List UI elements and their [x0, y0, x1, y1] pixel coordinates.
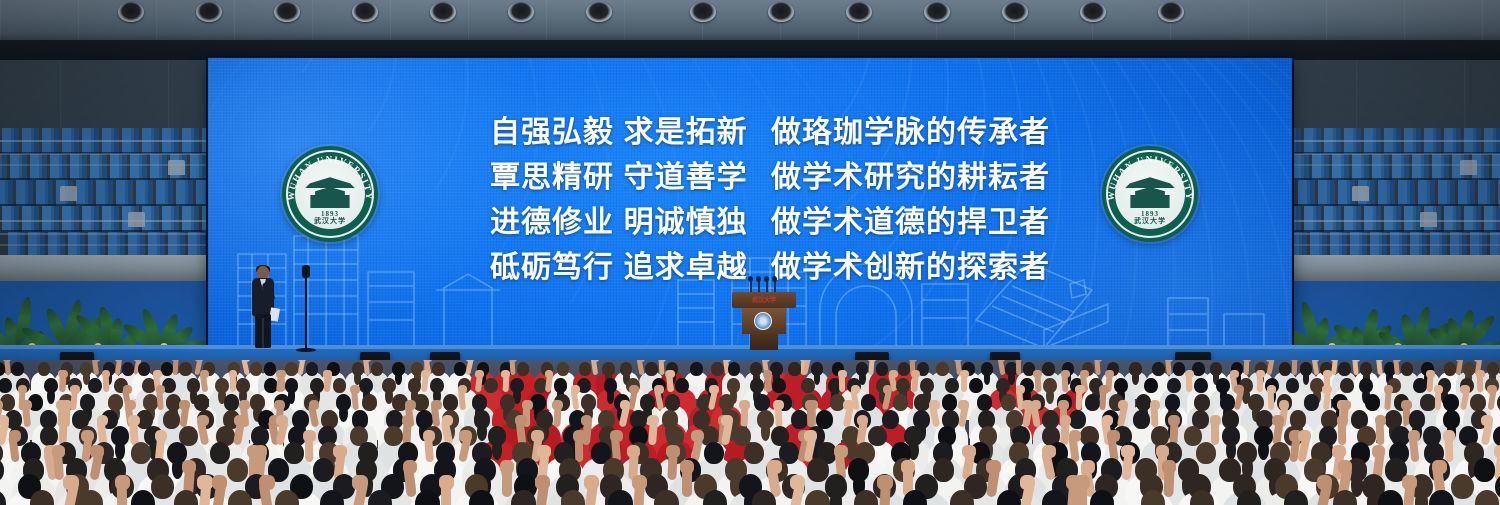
audience-member-fist [709, 385, 719, 394]
audience-member-fist [1272, 415, 1284, 426]
audience-member-head [1340, 378, 1354, 393]
audience-member-fist [1185, 370, 1194, 378]
balcony-fascia-left [0, 255, 208, 281]
ceiling-light-icon [586, 2, 612, 22]
audience-member-fist [1375, 415, 1387, 426]
ceiling-light-icon [118, 2, 144, 22]
audience-member-head [645, 362, 657, 376]
audience-member-head [1141, 490, 1165, 505]
audience-member-fist [459, 430, 472, 442]
audience-member-fist [439, 475, 454, 490]
audience-member-head [320, 490, 344, 505]
audience-member-head [454, 362, 466, 376]
audience-member-fist [1340, 400, 1351, 410]
audience-member [469, 490, 511, 505]
slide-line-4-segment-b: 追求卓越 [624, 245, 771, 290]
audience-member [703, 490, 745, 505]
audience-member-head [861, 394, 876, 411]
audience-member-head [1475, 490, 1499, 505]
audience-member-head [1192, 362, 1204, 376]
audience-member-fist [58, 415, 70, 426]
audience-member-fist [1081, 460, 1095, 474]
ceiling-light-icon [1158, 2, 1184, 22]
audience-member-fist [1074, 475, 1089, 490]
audience-member-fist [1322, 385, 1332, 394]
audience-member-fist [81, 430, 94, 442]
ceiling-light-icon [508, 2, 534, 22]
audience-member-head [38, 362, 50, 376]
audience-member-head [413, 394, 428, 411]
audience-member-head [1429, 490, 1453, 505]
audience-member-fist [1432, 460, 1446, 474]
svg-text:WUHAN UNIVERSITY: WUHAN UNIVERSITY [1106, 154, 1194, 201]
audience-member-fist [1476, 370, 1485, 378]
audience-member-fist [1168, 415, 1180, 426]
balcony-seat-empty [60, 186, 77, 201]
audience-member-fist [234, 415, 246, 426]
audience-member-fist [1042, 445, 1055, 458]
audience-member-fist [303, 430, 316, 442]
audience-member [368, 490, 410, 505]
audience-member [805, 490, 847, 505]
audience-member-fist [1060, 415, 1072, 426]
balcony-fascia-right [1292, 255, 1500, 281]
audience-member-fist [666, 445, 679, 458]
audience-member-head [728, 362, 740, 376]
audience-member-head [936, 362, 948, 376]
audience-member-fist [1234, 385, 1244, 394]
audience-member-head [557, 362, 569, 376]
emblem-arc-label-left: WUHAN UNIVERSITY [286, 154, 374, 201]
audience-member-fist [767, 460, 781, 474]
audience-member-fist [911, 370, 920, 378]
balcony-railing [1292, 140, 1500, 174]
audience-member-fist [1487, 385, 1497, 394]
audience-member-fist [1443, 430, 1456, 442]
audience-member-fist [584, 475, 599, 490]
audience-member-fist [790, 475, 805, 490]
ceiling-light-icon [196, 2, 222, 22]
audience-member [950, 490, 992, 505]
audience-member-head [1378, 490, 1402, 505]
audience-member-fist [552, 400, 563, 410]
audience-member-fist [627, 445, 640, 458]
audience-member-fist [442, 415, 454, 426]
audience-member-fist [763, 370, 772, 378]
audience-member-head [122, 362, 134, 376]
audience-member-fist [1279, 400, 1290, 410]
audience-member-head [511, 490, 535, 505]
audience-member-fist [629, 385, 639, 394]
audience-member-fist [805, 400, 816, 410]
audience-member-fist [958, 400, 969, 410]
audience-member-fist [1075, 385, 1085, 394]
audience-crowd [0, 360, 1500, 505]
audience-member-fist [276, 415, 288, 426]
microphone-head-icon [302, 265, 310, 278]
audience-member-fist [868, 360, 876, 362]
slide-line-4-segment-c: 做学术创新的探索者 [771, 245, 1050, 290]
audience-member-head [1304, 394, 1319, 411]
audience-member-fist [1099, 385, 1109, 394]
audience-member-fist [97, 415, 109, 426]
audience-member-fist [276, 370, 285, 378]
slide-text-block: 自强弘毅 求是拓新 做珞珈学脉的传承者 覃思精研 守道善学 做学术研究的耕耘者 … [490, 110, 1050, 290]
audience-member-head [194, 394, 209, 411]
audience-member-fist [647, 415, 659, 426]
audience-member-head [805, 490, 829, 505]
audience-member-fist [1338, 460, 1352, 474]
audience-member-fist [59, 370, 68, 378]
audience-member-fist [197, 415, 209, 426]
audience-member-fist [1061, 370, 1070, 378]
audience-member-head [179, 362, 191, 376]
audience-member-fist [901, 460, 915, 474]
audience-member-head [0, 490, 6, 505]
podium: 武汉大学 [740, 292, 788, 350]
audience-member-fist [18, 385, 28, 394]
stage-presenter [250, 266, 276, 348]
audience-member-fist [102, 370, 111, 378]
audience-member [752, 490, 794, 505]
audience-member-head [1001, 394, 1016, 411]
audience-member-fist [857, 415, 869, 426]
audience-member-fist [1426, 370, 1435, 378]
audience-member-fist [70, 385, 80, 394]
audience-member-fist [115, 475, 130, 490]
audience-member-head [914, 394, 929, 411]
audience-member-fist [1020, 475, 1035, 490]
audience-member-head [250, 362, 262, 376]
audience-member-head [517, 362, 529, 376]
audience-member [1237, 490, 1279, 505]
audience-member [1141, 490, 1183, 505]
audience-member-head [1194, 394, 1209, 411]
audience-member-head [79, 490, 103, 505]
slide-line-2: 覃思精研 守道善学 做学术研究的耕耘者 [490, 155, 1050, 200]
audience-member-fist [1162, 460, 1176, 474]
slide-line-4-segment-a: 砥砺笃行 [490, 245, 624, 290]
audience-member-head [1333, 490, 1357, 505]
audience-member-fist [515, 415, 527, 426]
audience-member-fist [1016, 385, 1026, 394]
audience-member-head [665, 394, 680, 411]
audience-member-head [432, 362, 444, 376]
audience-member-fist [155, 430, 168, 442]
audience-member-fist [1298, 430, 1311, 442]
audience-member-fist [537, 445, 550, 458]
audience-member-fist [721, 415, 733, 426]
audience-member-fist [573, 430, 586, 442]
podium-seal-icon [754, 312, 772, 330]
audience-member-fist [838, 370, 847, 378]
audience-member-head [945, 378, 959, 393]
audience-member-raised-arm [1016, 360, 1022, 375]
audience-member-raised-arm [4, 360, 11, 375]
audience-member-fist [680, 460, 694, 474]
presenter-leg-split [262, 318, 264, 348]
slide-line-1-segment-a: 自强弘毅 [490, 110, 624, 155]
audience-member [415, 490, 457, 505]
slide-line-3-segment-c: 做学术道德的捍卫者 [771, 200, 1050, 245]
audience-member-fist [834, 445, 847, 458]
audience-member-head [579, 362, 591, 376]
ceiling-light-icon [1080, 2, 1106, 22]
audience-member-fist [1210, 415, 1222, 426]
audience-member-fist [610, 430, 623, 442]
audience-member-head [561, 490, 585, 505]
audience-member-head [801, 378, 815, 393]
audience-member-fist [458, 385, 468, 394]
audience-member [275, 490, 317, 505]
audience-member-fist [500, 460, 514, 474]
audience-member-head [1152, 362, 1164, 376]
audience-member-fist [1243, 360, 1251, 362]
emblem-arc-label-right: WUHAN UNIVERSITY [1106, 154, 1194, 201]
audience-member-fist [1094, 360, 1102, 362]
balcony-railing [1292, 220, 1500, 254]
audience-member-fist [421, 370, 430, 378]
audience-member-fist [212, 475, 227, 490]
balcony-railing [0, 140, 208, 174]
audience-member-fist [960, 370, 969, 378]
audience-member-head [1042, 490, 1066, 505]
audience-member-fist [1156, 445, 1169, 458]
audience-member-head [415, 490, 439, 505]
audience-member-fist [402, 415, 414, 426]
audience-member-fist [239, 400, 250, 410]
audience-member-fist [501, 370, 510, 378]
audience-member-fist [1384, 385, 1394, 394]
audience-member-fist [1267, 385, 1277, 394]
audience-member-head [469, 490, 493, 505]
audience-member [174, 490, 216, 505]
audience-member-head [174, 490, 198, 505]
audience-member-fist [123, 385, 133, 394]
audience-member-head [228, 490, 252, 505]
audience-member-fist [531, 430, 544, 442]
audience-member-head [264, 362, 276, 376]
audience-member-fist [1105, 370, 1114, 378]
audience-member-head [1090, 490, 1114, 505]
audience-member [903, 490, 945, 505]
audience-member-head [950, 490, 974, 505]
audience-member-head [1173, 362, 1185, 376]
audience-member-fist [986, 460, 1000, 474]
audience-member-head [675, 378, 689, 393]
audience-member-fist [1323, 370, 1332, 378]
audience-member-head [854, 490, 878, 505]
audience-member-fist [883, 385, 893, 394]
audience-member-fist [1494, 445, 1500, 458]
slide-line-1: 自强弘毅 求是拓新 做珞珈学脉的传承者 [490, 110, 1050, 155]
audience-member-fist [1118, 400, 1129, 410]
slide-line-4: 砥砺笃行 追求卓越 做学术创新的探索者 [490, 245, 1050, 290]
audience-member-fist [804, 430, 817, 442]
audience-member [608, 490, 650, 505]
audience-member [131, 490, 173, 505]
audience-member-fist [92, 360, 100, 362]
slide-line-2-segment-a: 覃思精研 [490, 155, 624, 200]
audience-member-raised-arm [92, 360, 100, 375]
audience-member-fist [591, 360, 599, 362]
audience-member-head [275, 490, 299, 505]
audience-member-raised-arm [591, 360, 599, 375]
audience-member-head [306, 362, 318, 376]
audience-member-fist [229, 370, 238, 378]
audience-member-head [711, 362, 723, 376]
audience-member-fist [1031, 400, 1042, 410]
audience-member-fist [1033, 370, 1042, 378]
audience-member-head [754, 394, 769, 411]
university-emblem-left: 1893 武汉大学 WUHAN UNIVERSITY [282, 146, 378, 242]
audience-member [1378, 490, 1420, 505]
audience-member-fist [851, 385, 861, 394]
audience-member-head [1401, 362, 1413, 376]
audience-member-head [969, 378, 983, 393]
audience-member-fist [352, 475, 367, 490]
audience-member-fist [333, 445, 346, 458]
slide-line-1-segment-c: 做珞珈学脉的传承者 [771, 110, 1050, 155]
audience-member-fist [21, 400, 32, 410]
podium-base [750, 334, 778, 350]
audience-member-fist [739, 400, 750, 410]
audience-member-fist [929, 400, 940, 410]
audience-member-head [1042, 362, 1054, 376]
audience-member-head [903, 490, 927, 505]
audience-member-head [1420, 394, 1435, 411]
audience-member-head [131, 490, 155, 505]
audience-member-fist [962, 445, 975, 458]
audience-member [1090, 490, 1132, 505]
audience-member-fist [128, 415, 140, 426]
audience-member-head [443, 394, 458, 411]
microphone-stand-base [296, 348, 316, 352]
audience-member-fist [1332, 445, 1345, 458]
audience-member-fist [1460, 385, 1470, 394]
slide-line-2-segment-b: 守道善学 [624, 155, 771, 200]
audience-member [997, 490, 1039, 505]
audience-member-raised-arm [172, 360, 178, 375]
ceiling-light-array [0, 0, 1500, 24]
ceremony-photo: 1893 武汉大学 WUHAN UNIVERSITY 1893 武汉大学 [0, 0, 1500, 505]
audience-member-fist [405, 400, 416, 410]
audience-member-fist [877, 475, 892, 490]
audience-member-head [893, 394, 908, 411]
audience-member-head [30, 490, 54, 505]
audience-member-head [942, 394, 957, 411]
audience-member-fist [1408, 430, 1421, 442]
audience-member-fist [1058, 400, 1069, 410]
balcony-seat-row [0, 180, 208, 206]
audience-member-fist [52, 445, 65, 458]
audience-member-head [368, 490, 392, 505]
slide-line-3-segment-b: 明诚慎独 [624, 200, 771, 245]
audience-member-head [608, 490, 632, 505]
audience-member-fist [1434, 385, 1444, 394]
podium-top: 武汉大学 [732, 292, 796, 308]
audience-member-fist [1121, 445, 1134, 458]
audience-member-head [703, 490, 727, 505]
svg-text:WUHAN UNIVERSITY: WUHAN UNIVERSITY [286, 154, 374, 201]
audience-member-raised-arm [1292, 360, 1297, 375]
audience-member-head [997, 490, 1021, 505]
audience-member-head [1413, 378, 1427, 393]
audience-member-fist [1080, 370, 1089, 378]
ceiling-light-icon [768, 2, 794, 22]
audience-member-fist [522, 400, 533, 410]
audience-member-fist [535, 475, 550, 490]
audience-member-raised-arm [1244, 360, 1250, 375]
audience-member-head [371, 362, 383, 376]
audience-member-fist [1256, 370, 1265, 378]
audience-member-head [1338, 362, 1350, 376]
audience-member-fist [274, 400, 285, 410]
audience-member-raised-arm [1266, 360, 1274, 375]
audience-member-fist [1107, 430, 1120, 442]
balcony-seat-empty [1352, 186, 1369, 201]
ceiling-light-icon [430, 2, 456, 22]
audience-member-fist [153, 370, 162, 378]
audience-member-head [876, 362, 888, 376]
audience-member-fist [0, 415, 9, 426]
audience-member-head [1085, 394, 1100, 411]
audience-member-head [362, 394, 377, 411]
audience-member-fist [1401, 400, 1412, 410]
audience-member-fist [1337, 415, 1349, 426]
slide-line-3-segment-a: 进德修业 [490, 200, 624, 245]
audience-member-fist [156, 385, 166, 394]
audience-member-fist [90, 445, 103, 458]
audience-member-head [224, 394, 239, 411]
audience-member-fist [179, 400, 190, 410]
audience-member-fist [773, 400, 784, 410]
audience-member-head [138, 362, 150, 376]
audience-member [1429, 490, 1471, 505]
audience-member-head [1365, 394, 1380, 411]
audience-member-head [977, 394, 992, 411]
audience-member-head [752, 490, 776, 505]
audience-member-fist [61, 400, 72, 410]
audience-member-head [1190, 490, 1214, 505]
audience-member-fist [1150, 400, 1161, 410]
audience-member-fist [1372, 445, 1385, 458]
audience-member [79, 490, 121, 505]
balcony-seat-row [1292, 180, 1500, 206]
audience-member-head [484, 378, 498, 393]
audience-member-fist [654, 385, 664, 394]
audience-member-fist [762, 360, 770, 362]
university-emblem-right: 1893 武汉大学 WUHAN UNIVERSITY [1102, 146, 1198, 242]
ceiling-light-icon [274, 2, 300, 22]
audience-member-head [1444, 362, 1456, 376]
audience-member-head [1279, 362, 1291, 376]
emblem-arc-text-right: WUHAN UNIVERSITY [1102, 146, 1198, 242]
balcony-seating-left [0, 128, 208, 263]
audience-member-fist [475, 370, 484, 378]
audience-member-fist [1402, 475, 1417, 490]
audience-member-fist [182, 460, 196, 474]
audience-member-fist [889, 370, 898, 378]
audience-member-head [1167, 378, 1181, 393]
audience-member-fist [423, 430, 436, 442]
audience-member-fist [1230, 370, 1239, 378]
audience-member-fist [1481, 415, 1493, 426]
audience-member [654, 490, 696, 505]
audience-member [1333, 490, 1375, 505]
audience-member-fist [545, 370, 554, 378]
ceiling-light-icon [1002, 2, 1028, 22]
